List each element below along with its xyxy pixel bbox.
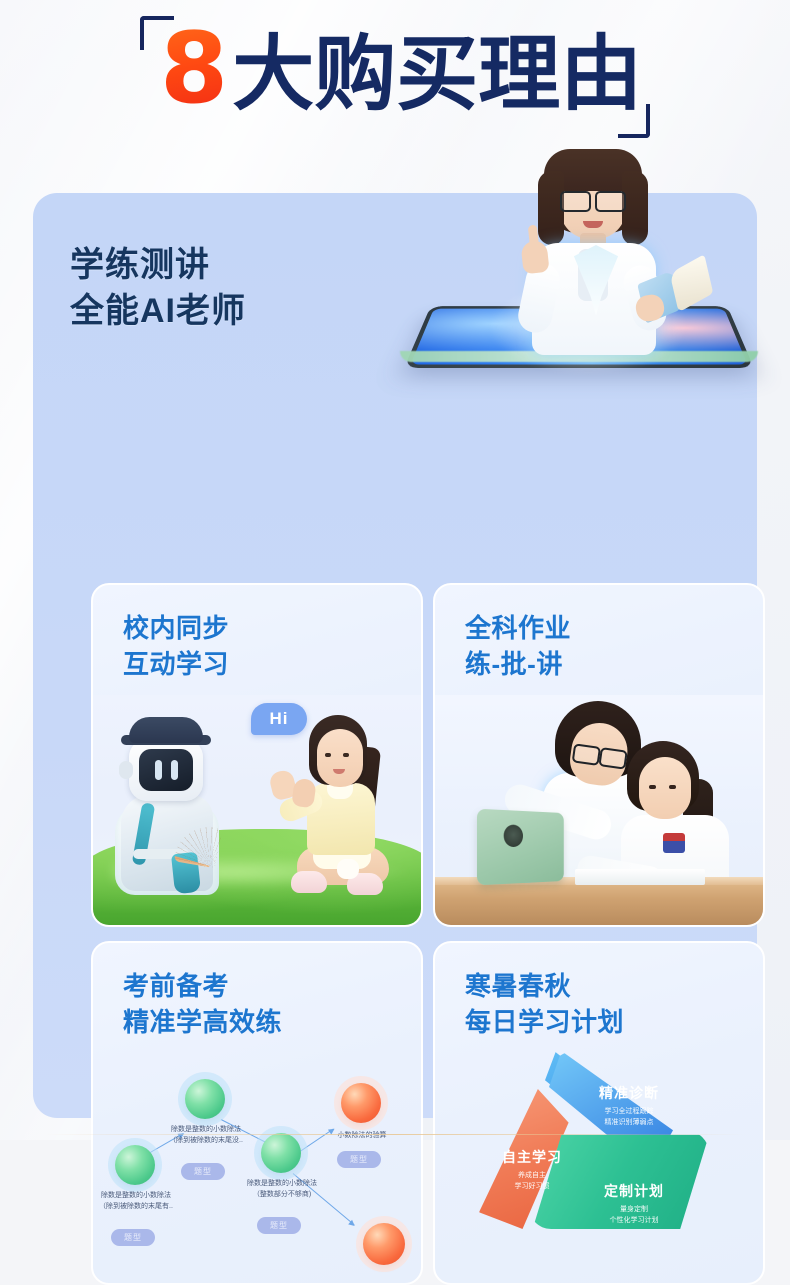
- girl-eye-right: [343, 753, 349, 757]
- girl-sock: [337, 859, 359, 879]
- graph-node-3-badge: 题型: [257, 1217, 301, 1234]
- card-2-title: 全科作业 练-批-讲: [465, 611, 571, 683]
- triangle-label-self-study-title: 自主学习: [485, 1147, 579, 1167]
- card-1-illustration: Hi: [93, 695, 421, 925]
- triangle-label-self-study-sub1: 养成自主: [485, 1170, 579, 1181]
- graph-node-1-label: 除数是整数的小数除法（除到被除数的末尾有..: [95, 1191, 177, 1212]
- card-2-title-line-1: 全科作业: [465, 611, 571, 647]
- card-1-title-line-1: 校内同步: [123, 611, 229, 647]
- glasses-icon: [560, 191, 626, 208]
- graph-node-green-2[interactable]: [185, 1079, 225, 1119]
- card-4-title-line-1: 寒暑春秋: [465, 969, 624, 1005]
- triangle-label-custom-plan: 定制计划 量身定制 个性化学习计划: [579, 1181, 689, 1226]
- girl-eye-left: [325, 753, 331, 757]
- tablet-camera-icon: [504, 824, 523, 847]
- page-title: 8 大购买理由: [160, 20, 642, 118]
- triangle-label-custom-plan-sub1: 量身定制: [579, 1204, 689, 1215]
- footer-divider: [46, 1134, 746, 1135]
- ai-robot-figure: [115, 717, 225, 897]
- hero-teacher-tablet-illustration: [378, 145, 778, 395]
- graph-node-3-label: 除数是整数的小数除法（整数部分不够商): [241, 1179, 323, 1200]
- robot-eye-left: [155, 760, 162, 780]
- panel-heading: 学练测讲 全能AI老师: [70, 243, 246, 334]
- worksheet-paper: [575, 869, 705, 885]
- triangle-label-self-study: 自主学习 养成自主 学习好习惯: [485, 1147, 579, 1192]
- robot-hat: [129, 717, 203, 743]
- card-4-title-line-2: 每日学习计划: [465, 1005, 624, 1041]
- book-right-page: [670, 254, 714, 312]
- student-eye-left: [649, 785, 656, 789]
- panel-heading-line-1: 学练测讲: [70, 243, 246, 289]
- card-3-title-line-1: 考前备考: [123, 969, 282, 1005]
- student-face: [639, 757, 691, 819]
- graph-node-4-badge: 题型: [337, 1151, 381, 1168]
- desk: [435, 881, 763, 925]
- triangle-label-diagnose-sub2: 精准识别薄弱点: [575, 1117, 683, 1128]
- robot-eye-right: [171, 760, 178, 780]
- feature-card-daily-plan[interactable]: 寒暑春秋 每日学习计划 精准诊断 学习全过程跟踪 精准识别薄弱点 自主学习 养成…: [433, 941, 765, 1285]
- graph-node-green-1[interactable]: [115, 1145, 155, 1185]
- knowledge-graph-illustration: 除数是整数的小数除法（除到被除数的末尾有.. 题型 除数是整数的小数除法（除到被…: [93, 1055, 421, 1283]
- graph-node-orange-2[interactable]: [363, 1223, 405, 1265]
- card-4-title: 寒暑春秋 每日学习计划: [465, 969, 624, 1041]
- title-text: 大购买理由: [232, 34, 642, 116]
- girl-face: [317, 729, 363, 787]
- green-tablet-device: [477, 809, 564, 886]
- student-girl-figure: [273, 713, 403, 903]
- card-1-title: 校内同步 互动学习: [123, 611, 229, 683]
- card-2-title-line-2: 练-批-讲: [465, 647, 571, 683]
- graph-node-2-badge: 题型: [181, 1163, 225, 1180]
- triangle-label-diagnose-sub1: 学习全过程跟踪: [575, 1106, 683, 1117]
- features-panel: 学练测讲 全能AI老师: [33, 193, 757, 1118]
- triangle-label-diagnose: 精准诊断 学习全过程跟踪 精准识别薄弱点: [575, 1083, 683, 1128]
- triangle-label-custom-plan-sub2: 个性化学习计划: [579, 1215, 689, 1226]
- robot-ear: [119, 761, 133, 779]
- corner-bracket-bottom-right-icon: [618, 104, 650, 138]
- feature-card-exam-prep[interactable]: 考前备考 精准学高效练 除数是整数的小数除法（除到被除数的末尾有.. 题型 除数…: [91, 941, 423, 1285]
- graph-node-green-3[interactable]: [261, 1133, 301, 1173]
- girl-shoe-left: [291, 871, 327, 893]
- graph-node-2-label: 除数是整数的小数除法（除到被除数的末尾没..: [165, 1125, 247, 1146]
- triangle-cycle-diagram: 精准诊断 学习全过程跟踪 精准识别薄弱点 自主学习 养成自主 学习好习惯 定制计…: [479, 1047, 727, 1267]
- page-background: 8 大购买理由 学练测讲 全能AI老师: [0, 0, 790, 1140]
- card-2-illustration: [435, 695, 763, 925]
- title-number: 8: [160, 20, 226, 118]
- panel-heading-line-2: 全能AI老师: [70, 289, 246, 335]
- robot-face-screen: [139, 749, 193, 791]
- triangle-label-self-study-sub2: 学习好习惯: [485, 1181, 579, 1192]
- student-eye-right: [669, 785, 676, 789]
- triangle-label-diagnose-title: 精准诊断: [575, 1083, 683, 1103]
- triangle-label-custom-plan-title: 定制计划: [579, 1181, 689, 1201]
- graph-node-orange-1[interactable]: [341, 1083, 381, 1123]
- card-1-title-line-2: 互动学习: [123, 647, 229, 683]
- student-uniform-badge: [663, 833, 685, 853]
- teacher-figure: [498, 145, 688, 360]
- feature-card-school-sync[interactable]: 校内同步 互动学习 Hi: [91, 583, 423, 927]
- card-3-title-line-2: 精准学高效练: [123, 1005, 282, 1041]
- card-3-title: 考前备考 精准学高效练: [123, 969, 282, 1041]
- graph-node-1-badge: 题型: [111, 1229, 155, 1246]
- feature-card-homework[interactable]: 全科作业 练-批-讲: [433, 583, 765, 927]
